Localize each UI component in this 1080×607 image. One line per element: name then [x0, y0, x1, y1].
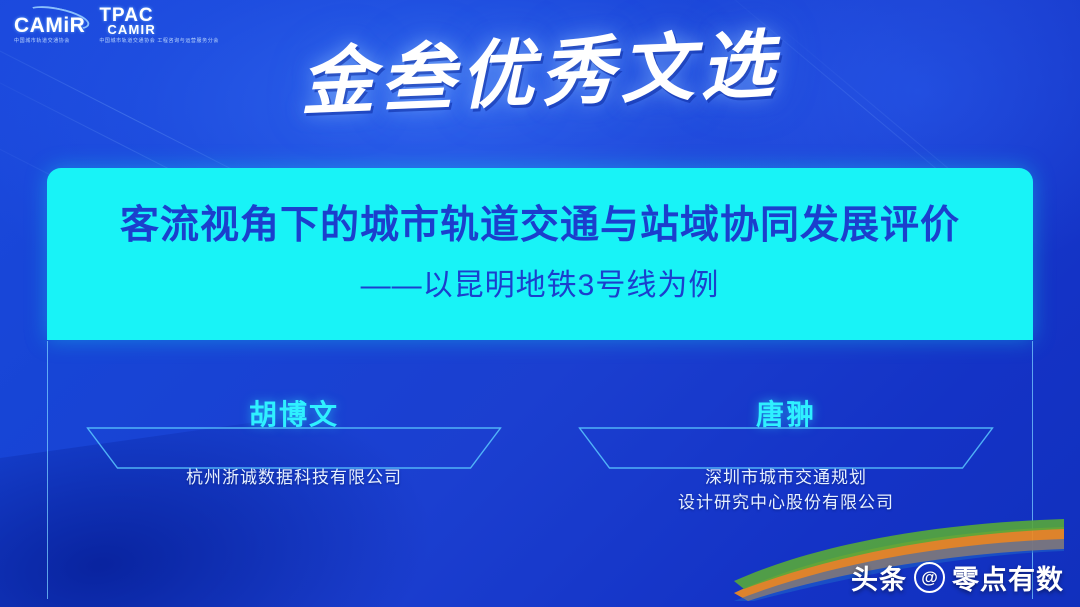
page-subtitle: ——以昆明地铁3号线为例 — [361, 260, 720, 304]
tpac-logo: TPAC CAMIR 中国城市轨道交通协会 工程咨询与运营服务分会 — [99, 8, 219, 44]
watermark-platform-label: 头条 — [851, 558, 907, 597]
page-title: 客流视角下的城市轨道交通与站域协同发展评价 — [120, 204, 960, 249]
author-affiliation-line1: 深圳市城市交通规划 — [705, 468, 867, 487]
author-column-1: 胡博文 杭州浙诚数据科技有限公司 — [48, 341, 540, 599]
author-affiliation-line2: 设计研究中心股份有限公司 — [678, 491, 894, 516]
logo-group: CAMiR 中国城市轨道交通协会 TPAC CAMIR 中国城市轨道交通协会 工… — [14, 8, 219, 44]
camir-logo: CAMiR 中国城市轨道交通协会 — [14, 15, 85, 45]
title-banner: 客流视角下的城市轨道交通与站域协同发展评价 ——以昆明地铁3号线为例 — [47, 168, 1033, 340]
author-name: 胡博文 — [249, 393, 339, 433]
author-name: 唐翀 — [756, 393, 816, 433]
author-affiliation: 杭州浙诚数据科技有限公司 — [186, 466, 402, 491]
at-symbol-icon: @ — [914, 562, 945, 593]
camir-subtitle: 中国城市轨道交通协会 — [14, 38, 85, 45]
author-platform-shape — [87, 427, 502, 469]
author-affiliation-line1: 杭州浙诚数据科技有限公司 — [186, 468, 402, 487]
watermark-account-label: 零点有数 — [952, 558, 1064, 597]
tpac-wordmark-secondary: CAMIR — [107, 24, 219, 36]
presentation-title-slide: CAMiR 中国城市轨道交通协会 TPAC CAMIR 中国城市轨道交通协会 工… — [0, 0, 1080, 607]
watermark: 头条 @ 零点有数 — [851, 558, 1064, 597]
author-platform-shape — [579, 427, 994, 469]
author-affiliation: 深圳市城市交通规划 设计研究中心股份有限公司 — [678, 466, 894, 515]
